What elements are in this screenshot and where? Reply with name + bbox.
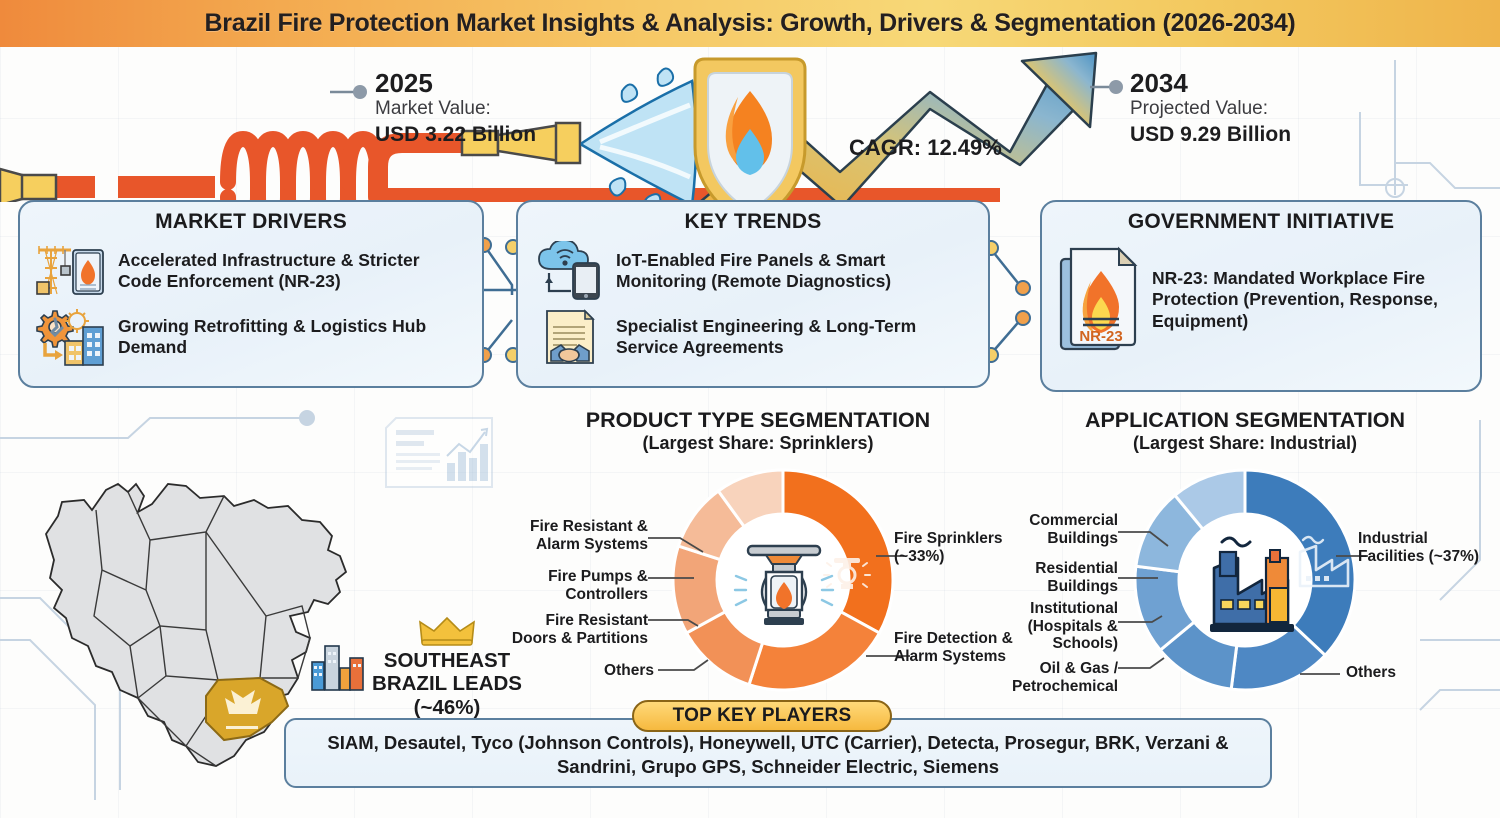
svg-text:NR-23: NR-23 — [1079, 328, 1122, 345]
product-label-fire-resistant-alarm: Fire Resistant & Alarm Systems — [498, 518, 648, 553]
card-key-trends-heading: KEY TRENDS — [532, 210, 974, 234]
trend-item-1: IoT-Enabled Fire Panels & Smart Monitori… — [532, 240, 974, 302]
product-seg-title: PRODUCT TYPE SEGMENTATION — [498, 408, 1018, 432]
initiative-item-1-text: NR-23: Mandated Workplace Fire Protectio… — [1152, 268, 1466, 332]
card-government-initiative-heading: GOVERNMENT INITIATIVE — [1056, 210, 1466, 234]
product-label-others: Others — [498, 662, 654, 680]
hero-metrics: 2025 Market Value: USD 3.22 Billion CAGR… — [0, 47, 1500, 202]
page-title: Brazil Fire Protection Market Insights &… — [205, 9, 1296, 38]
trend-item-2-text: Specialist Engineering & Long-Term Servi… — [616, 316, 974, 359]
application-label-commercial: Commercial Buildings — [1000, 512, 1118, 547]
top-key-players-list: SIAM, Desautel, Tyco (Johnson Controls),… — [304, 731, 1252, 779]
infographic-root: Brazil Fire Protection Market Insights &… — [0, 0, 1500, 818]
driver-item-1: Accelerated Infrastructure & Stricter Co… — [34, 240, 468, 302]
fire-shield-icon — [695, 59, 805, 202]
driver-item-2: Growing Retrofitting & Logistics Hub Dem… — [34, 306, 468, 368]
driver-item-2-text: Growing Retrofitting & Logistics Hub Dem… — [118, 316, 468, 359]
application-label-oil-gas: Oil & Gas / Petrochemical — [1000, 660, 1118, 695]
application-donut-wrap: Commercial Buildings Residential Buildin… — [1000, 460, 1490, 710]
product-label-fire-detection: Fire Detection & Alarm Systems — [894, 630, 1014, 665]
southeast-region-highlight — [206, 678, 288, 740]
base-year-value: 2025 — [375, 70, 536, 97]
application-seg-subtitle: (Largest Share: Industrial) — [1000, 433, 1490, 454]
application-segmentation: APPLICATION SEGMENTATION (Largest Share:… — [1000, 408, 1490, 710]
metric-base-year: 2025 Market Value: USD 3.22 Billion — [375, 70, 536, 148]
metric-forecast-year: 2034 Projected Value: USD 9.29 Billion — [1130, 70, 1291, 148]
driver-item-1-text: Accelerated Infrastructure & Stricter Co… — [118, 250, 468, 293]
application-label-others: Others — [1346, 664, 1466, 682]
top-key-players-badge-label: TOP KEY PLAYERS — [673, 705, 852, 727]
cloud-iot-tablet-icon — [532, 240, 606, 302]
page-title-bar: Brazil Fire Protection Market Insights &… — [0, 0, 1500, 47]
card-key-trends: KEY TRENDS I — [516, 200, 990, 388]
base-market-value: USD 3.22 Billion — [375, 122, 536, 148]
base-year-label: Market Value: — [375, 97, 536, 122]
nr23-document-fire-icon: NR-23 — [1056, 244, 1142, 356]
top-key-players-badge: TOP KEY PLAYERS — [632, 700, 892, 732]
insight-cards: MARKET DRIVERS — [0, 200, 1500, 395]
card-market-drivers-heading: MARKET DRIVERS — [34, 210, 468, 234]
application-label-institutional: Institutional (Hospitals & Schools) — [1000, 600, 1118, 653]
product-donut-wrap: Fire Resistant & Alarm Systems Fire Pump… — [498, 460, 1018, 710]
trend-item-2: Specialist Engineering & Long-Term Servi… — [532, 306, 974, 368]
forecast-market-value: USD 9.29 Billion — [1130, 122, 1291, 148]
application-label-industrial: Industrial Facilities (~37%) — [1358, 530, 1490, 565]
application-seg-title: APPLICATION SEGMENTATION — [1000, 408, 1490, 432]
card-market-drivers: MARKET DRIVERS — [18, 200, 484, 388]
product-label-fire-pumps: Fire Pumps & Controllers — [498, 568, 648, 603]
cagr-value: CAGR: 12.49% — [849, 135, 1002, 161]
forecast-year-value: 2034 — [1130, 70, 1291, 97]
card-government-initiative: GOVERNMENT INITIATIVE NR-23 NR-23: Manda… — [1040, 200, 1482, 392]
chart-decoration-icon — [386, 418, 492, 487]
forecast-year-label: Projected Value: — [1130, 97, 1291, 122]
product-label-fire-resistant-doors: Fire Resistant Doors & Partitions — [498, 612, 648, 647]
product-seg-subtitle: (Largest Share: Sprinklers) — [498, 433, 1018, 454]
gears-and-building-icon — [34, 306, 108, 368]
product-type-segmentation: PRODUCT TYPE SEGMENTATION (Largest Share… — [498, 408, 1018, 710]
initiative-item-1: NR-23 NR-23: Mandated Workplace Fire Pro… — [1056, 244, 1466, 356]
contract-handshake-icon — [532, 306, 606, 368]
trend-item-1-text: IoT-Enabled Fire Panels & Smart Monitori… — [616, 250, 974, 293]
crown-icon — [416, 616, 478, 646]
crane-and-codebook-icon — [34, 240, 108, 302]
application-label-residential: Residential Buildings — [1000, 560, 1118, 595]
